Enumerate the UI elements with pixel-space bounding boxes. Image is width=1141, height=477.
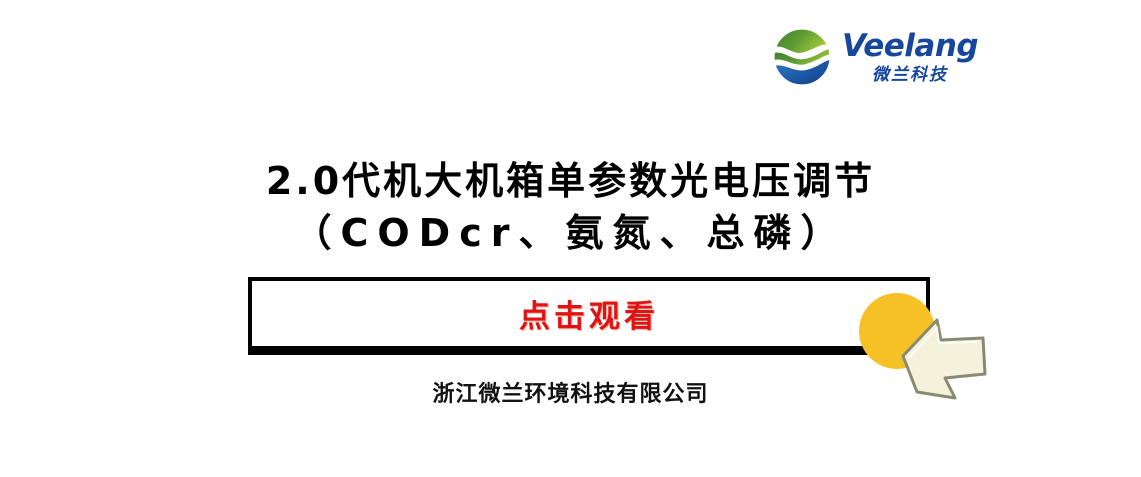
watch-video-button[interactable]: 点击观看 — [248, 277, 930, 355]
watch-video-button-label: 点击观看 — [519, 291, 659, 336]
brand-logo: Veelang 微兰科技 — [772, 26, 994, 88]
slide-canvas: Veelang 微兰科技 2.0代机大机箱单参数光电压调节 （CODcr、氨氮、… — [0, 0, 1141, 477]
footer-company-name: 浙江微兰环境科技有限公司 — [0, 376, 1141, 408]
brand-wordmark: Veelang — [842, 31, 978, 62]
brand-sub-wordmark: 微兰科技 — [872, 67, 948, 84]
title-block: 2.0代机大机箱单参数光电压调节 （CODcr、氨氮、总磷） — [0, 155, 1141, 259]
globe-wave-emblem-icon — [772, 27, 832, 87]
page-title-line-2: （CODcr、氨氮、总磷） — [0, 207, 1141, 259]
brand-wordmark-group: Veelang 微兰科技 — [842, 31, 978, 84]
page-title-line-1: 2.0代机大机箱单参数光电压调节 — [0, 155, 1141, 207]
